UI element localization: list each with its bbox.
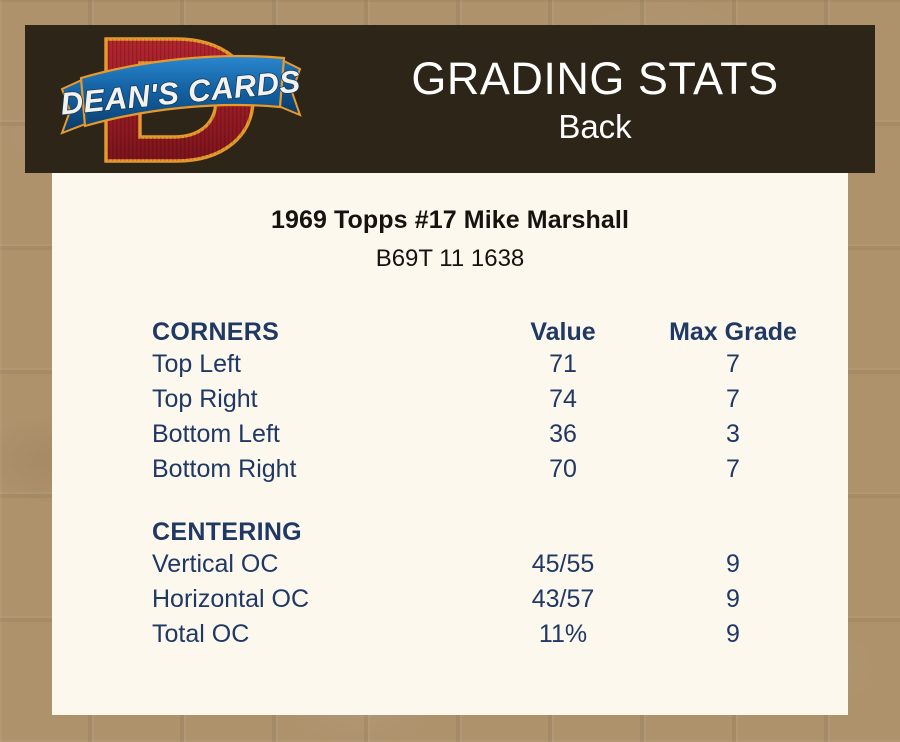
section-spacer (152, 487, 818, 507)
page-title: GRADING STATS (411, 55, 778, 102)
row-grade: 9 (648, 582, 818, 617)
table-row: Bottom Right 70 7 (152, 452, 818, 487)
row-grade: 7 (648, 347, 818, 382)
row-grade: 9 (648, 547, 818, 582)
row-label: Bottom Left (152, 417, 478, 452)
logo-ribbon: DEAN'S CARDS (59, 56, 302, 133)
row-label: Horizontal OC (152, 582, 478, 617)
row-value: 74 (478, 382, 648, 417)
row-label: Bottom Right (152, 452, 478, 487)
row-label: Total OC (152, 617, 478, 652)
row-grade: 7 (648, 452, 818, 487)
row-grade: 3 (648, 417, 818, 452)
stats-container: CORNERS Value Max Grade Top Left 71 7 To… (52, 307, 848, 652)
table-row: Horizontal OC 43/57 9 (152, 582, 818, 617)
row-value: 11% (478, 617, 648, 652)
grading-stats-page: DEAN'S CARDS GRADING STATS Back 1969 Top… (0, 0, 900, 742)
table-row: Total OC 11% 9 (152, 617, 818, 652)
row-grade: 7 (648, 382, 818, 417)
section-title-centering: CENTERING (152, 507, 478, 547)
column-header-value: Value (478, 307, 648, 347)
logo-graphic: DEAN'S CARDS (48, 27, 318, 172)
header-title-group: GRADING STATS Back (315, 31, 875, 171)
row-label: Top Left (152, 347, 478, 382)
section-header-centering: CENTERING (152, 507, 818, 547)
table-row: Top Right 74 7 (152, 382, 818, 417)
row-value: 43/57 (478, 582, 648, 617)
section-title-corners: CORNERS (152, 307, 478, 347)
row-value: 70 (478, 452, 648, 487)
grading-stats-table: CORNERS Value Max Grade Top Left 71 7 To… (152, 307, 818, 652)
table-row: Vertical OC 45/55 9 (152, 547, 818, 582)
card-title: 1969 Topps #17 Mike Marshall (52, 206, 848, 235)
row-value: 71 (478, 347, 648, 382)
row-grade: 9 (648, 617, 818, 652)
section-header-corners: CORNERS Value Max Grade (152, 307, 818, 347)
table-row: Top Left 71 7 (152, 347, 818, 382)
page-subtitle: Back (558, 106, 631, 147)
content-panel: 1969 Topps #17 Mike Marshall B69T 11 163… (52, 173, 848, 715)
card-id: B69T 11 1638 (52, 245, 848, 273)
table-row: Bottom Left 36 3 (152, 417, 818, 452)
row-value: 45/55 (478, 547, 648, 582)
row-value: 36 (478, 417, 648, 452)
header-bar: DEAN'S CARDS GRADING STATS Back (25, 25, 875, 173)
row-label: Vertical OC (152, 547, 478, 582)
deans-cards-logo[interactable]: DEAN'S CARDS (48, 27, 318, 172)
row-label: Top Right (152, 382, 478, 417)
column-header-max-grade: Max Grade (648, 307, 818, 347)
